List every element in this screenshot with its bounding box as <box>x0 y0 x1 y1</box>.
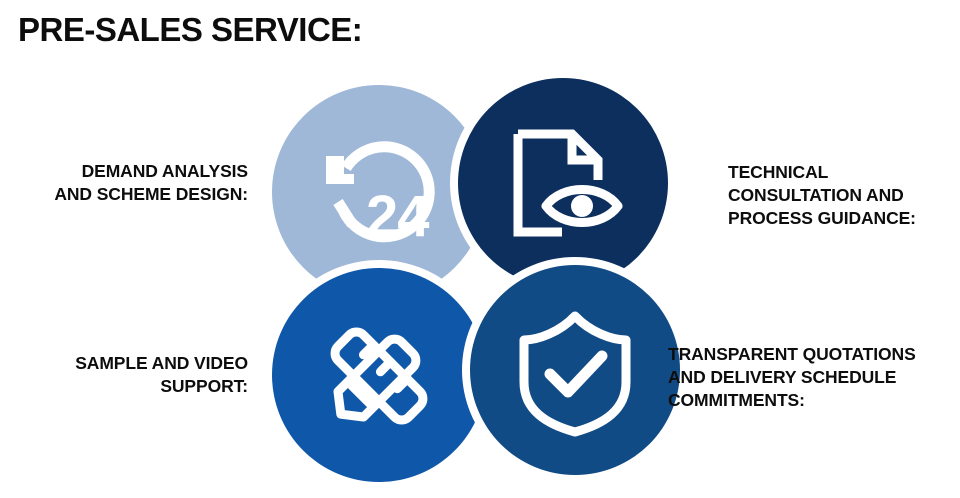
circle-transparent-quotations[interactable] <box>462 257 680 483</box>
label-demand-analysis: DEMAND ANALYSIS AND SCHEME DESIGN: <box>0 160 248 206</box>
infographic-canvas: PRE-SALES SERVICE: <box>0 0 960 498</box>
svg-text:24: 24 <box>366 184 429 249</box>
label-transparent-quotations: TRANSPARENT QUOTATIONS AND DELIVERY SCHE… <box>668 343 960 412</box>
circle-cluster: 24 <box>260 70 680 490</box>
label-sample-video-support: SAMPLE AND VIDEO SUPPORT: <box>0 352 248 398</box>
page-title: PRE-SALES SERVICE: <box>18 12 362 48</box>
label-technical-consultation: TECHNICAL CONSULTATION AND PROCESS GUIDA… <box>728 161 958 230</box>
